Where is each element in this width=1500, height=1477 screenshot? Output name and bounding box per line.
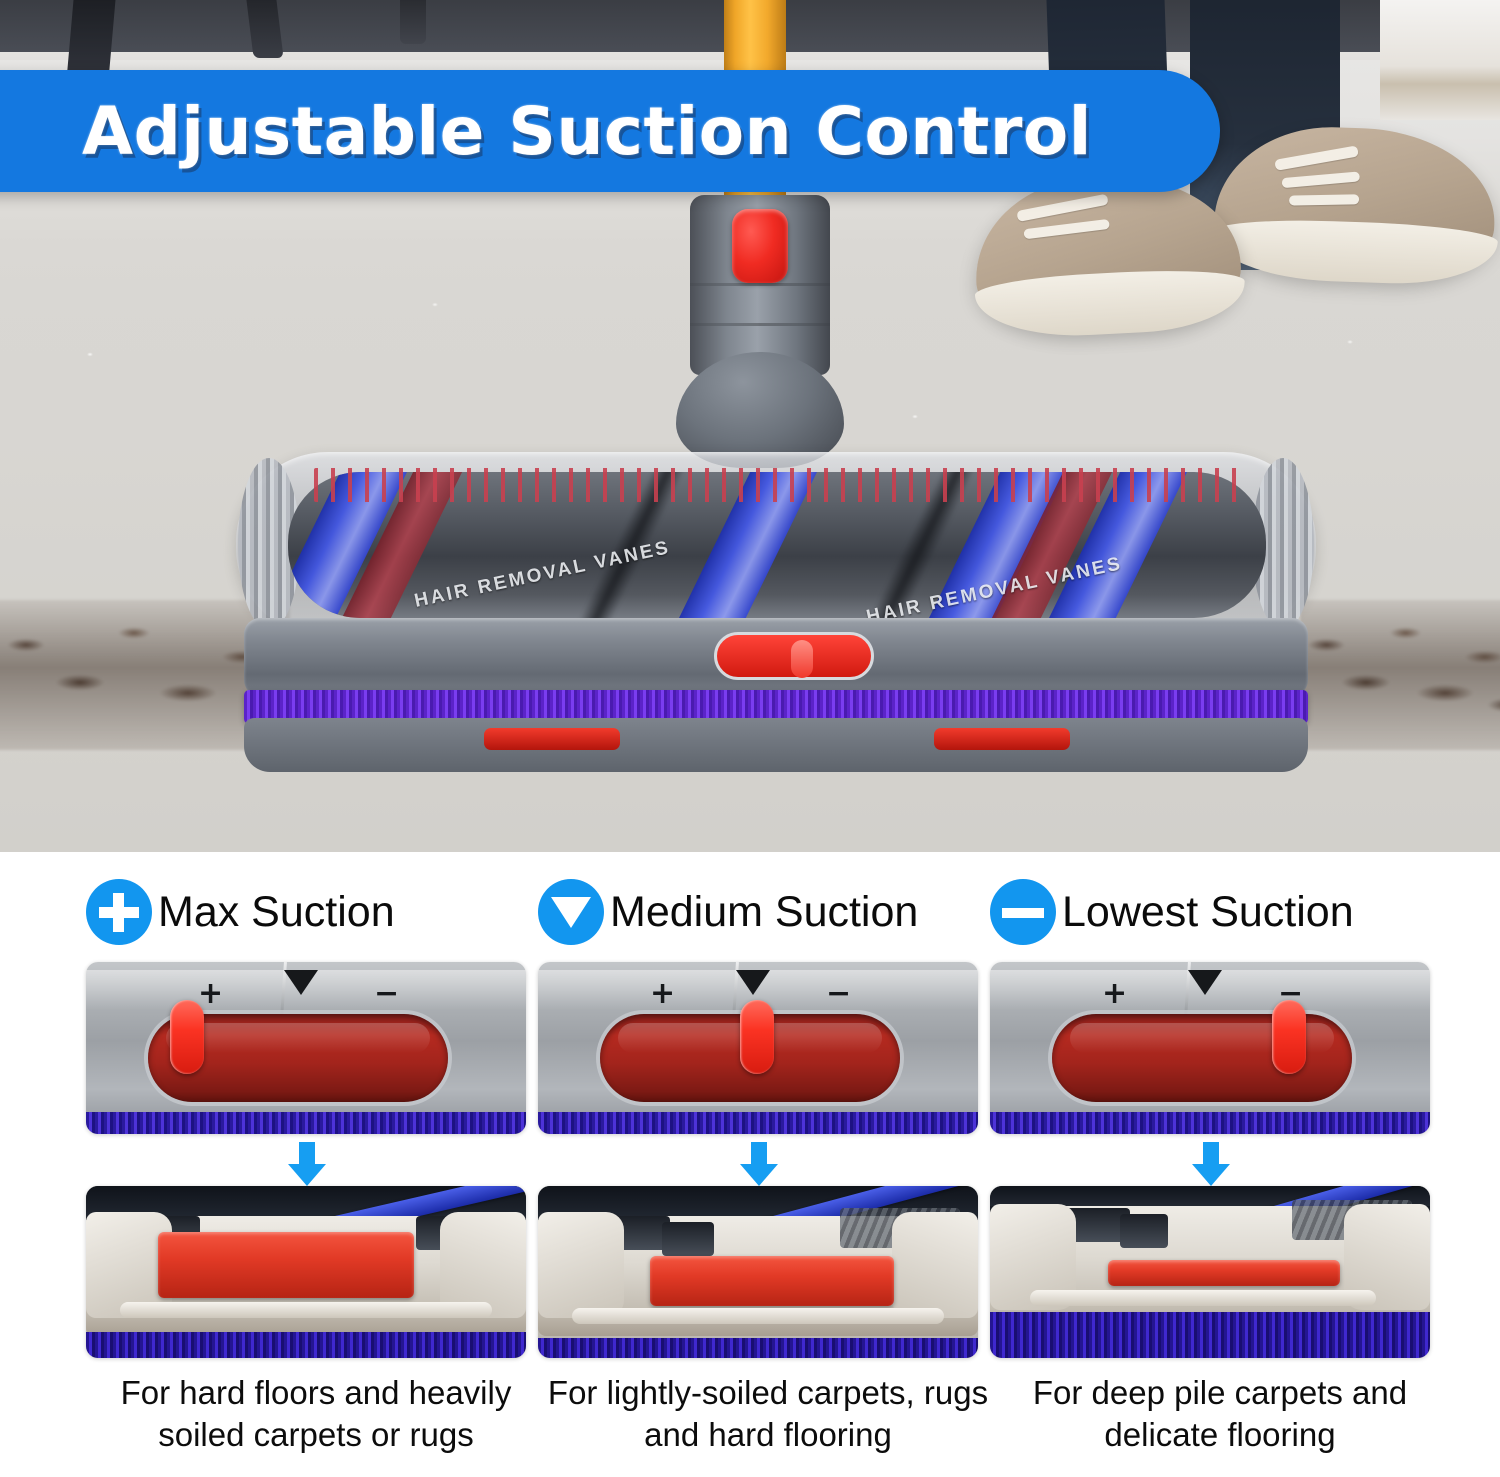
plus-mark: + [650,976,675,1011]
cleaner-head: HAIR REMOVAL VANES HAIR REMOVAL VANES [236,452,1316,784]
window-sill [1380,0,1500,120]
triangle-mark [284,970,318,995]
suction-column-lowest: Lowest Suction + − [990,852,1450,1456]
suction-column-max: Max Suction + − [86,852,546,1456]
infographic-page: HAIR REMOVAL VANES HAIR REMOVAL VANES Ad… [0,0,1500,1477]
neck-seam [690,323,830,326]
release-button-red[interactable] [732,209,788,283]
minus-circle-icon [990,879,1056,945]
suction-slider-control[interactable] [714,632,874,680]
red-suction-gate [650,1256,894,1306]
dirt-debris [1300,600,1500,750]
column-title: Lowest Suction [1062,888,1354,937]
red-vent-tab [934,728,1070,750]
column-header: Medium Suction [538,874,998,950]
page-title: Adjustable Suction Control [82,93,1092,170]
slider-photo-lowest: + − [990,962,1430,1134]
triangle-mark [1188,970,1222,995]
column-title: Medium Suction [610,888,918,937]
column-title: Max Suction [158,888,395,937]
down-arrow-icon [990,1140,1430,1186]
suction-column-medium: Medium Suction + − [538,852,998,1456]
slider-knob[interactable] [740,1000,774,1074]
red-vent-tab [484,728,620,750]
column-header: Max Suction [86,874,546,950]
column-caption: For lightly-soiled carpets, rugs and har… [538,1372,998,1456]
column-caption: For deep pile carpets and delicate floor… [990,1372,1450,1456]
triangle-down-circle-icon [538,879,604,945]
minus-mark: − [826,976,851,1011]
slider-knob[interactable] [170,1000,204,1074]
column-header: Lowest Suction [990,874,1450,950]
neck-seam [690,283,830,286]
title-banner: Adjustable Suction Control [0,70,1220,192]
suction-slider-knob[interactable] [791,640,813,678]
hair-removal-comb-teeth [314,468,1244,502]
shoe-lace [1016,194,1108,222]
red-suction-gate [158,1232,414,1298]
down-arrow-icon [538,1140,978,1186]
slider-track[interactable] [1052,1014,1352,1102]
plus-mark: + [198,976,223,1011]
red-suction-gate [1108,1260,1340,1286]
shoe-lace [1282,171,1361,188]
head-front-bar [244,618,1308,696]
purple-velvet-strip [990,1112,1430,1134]
hero-photo: HAIR REMOVAL VANES HAIR REMOVAL VANES Ad… [0,0,1500,852]
underside-photo-max [86,1186,526,1358]
purple-velvet-strip [538,1112,978,1134]
furniture-leg [67,0,116,80]
head-lower-shell [244,718,1308,772]
shoe-lace [1289,194,1359,205]
vacuum-neck [690,195,830,375]
triangle-mark [736,970,770,995]
minus-mark: − [374,976,399,1011]
down-arrow-icon [86,1140,526,1186]
furniture-leg [400,0,426,44]
shoe-lace [1023,219,1110,239]
purple-velvet-strip [86,1112,526,1134]
slider-knob[interactable] [1272,1000,1306,1074]
underside-photo-lowest [990,1186,1430,1358]
comparison-section: Max Suction + − [0,852,1500,1477]
slider-photo-medium: + − [538,962,978,1134]
plus-circle-icon [86,879,152,945]
plus-mark: + [1102,976,1127,1011]
slider-photo-max: + − [86,962,526,1134]
shoe-lace [1274,145,1359,170]
underside-photo-medium [538,1186,978,1358]
column-caption: For hard floors and heavily soiled carpe… [86,1372,546,1456]
